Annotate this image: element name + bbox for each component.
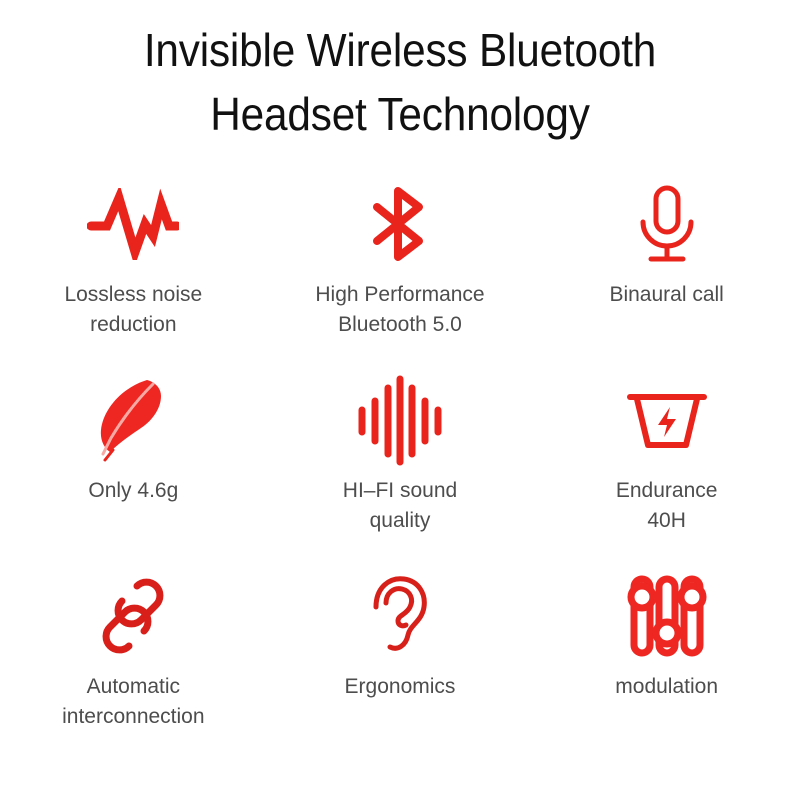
microphone-icon: [635, 176, 699, 272]
feature-item-label: HI–FI sound quality: [343, 476, 457, 536]
feature-item-label: Binaural call: [609, 280, 723, 310]
waveform-icon: [87, 176, 179, 272]
page-title: Invisible Wireless Bluetooth Headset Tec…: [0, 0, 800, 146]
page-title-line-2: Headset Technology: [32, 82, 768, 146]
feature-item-weight: Only 4.6g: [0, 372, 267, 568]
feature-item-label: Automatic interconnection: [62, 672, 204, 732]
feature-item-label: modulation: [615, 672, 718, 702]
feature-item-lossless-noise-reduction: Lossless noise reduction: [0, 176, 267, 372]
equalizer-bars-icon: [356, 372, 444, 468]
feature-item-endurance: Endurance 40H: [533, 372, 800, 568]
feature-item-modulation: modulation: [533, 568, 800, 764]
feature-item-auto-interconnection: Automatic interconnection: [0, 568, 267, 764]
feature-item-label: Only 4.6g: [88, 476, 178, 506]
feature-item-label: Endurance 40H: [616, 476, 718, 536]
feature-item-label: Lossless noise reduction: [64, 280, 202, 340]
chain-link-icon: [91, 568, 175, 664]
feature-item-bluetooth: High Performance Bluetooth 5.0: [267, 176, 534, 372]
feature-grid: Lossless noise reduction High Performanc…: [0, 176, 800, 764]
feature-item-label: High Performance Bluetooth 5.0: [315, 280, 484, 340]
sliders-icon: [626, 568, 708, 664]
charging-case-icon: [624, 372, 710, 468]
feature-item-ergonomics: Ergonomics: [267, 568, 534, 764]
feature-item-binaural-call: Binaural call: [533, 176, 800, 372]
ear-icon: [366, 568, 434, 664]
bluetooth-icon: [367, 176, 433, 272]
feature-item-label: Ergonomics: [345, 672, 456, 702]
page-title-line-1: Invisible Wireless Bluetooth: [32, 18, 768, 82]
feature-item-hifi-sound: HI–FI sound quality: [267, 372, 534, 568]
feather-icon: [91, 372, 175, 468]
feature-infographic: Invisible Wireless Bluetooth Headset Tec…: [0, 0, 800, 800]
